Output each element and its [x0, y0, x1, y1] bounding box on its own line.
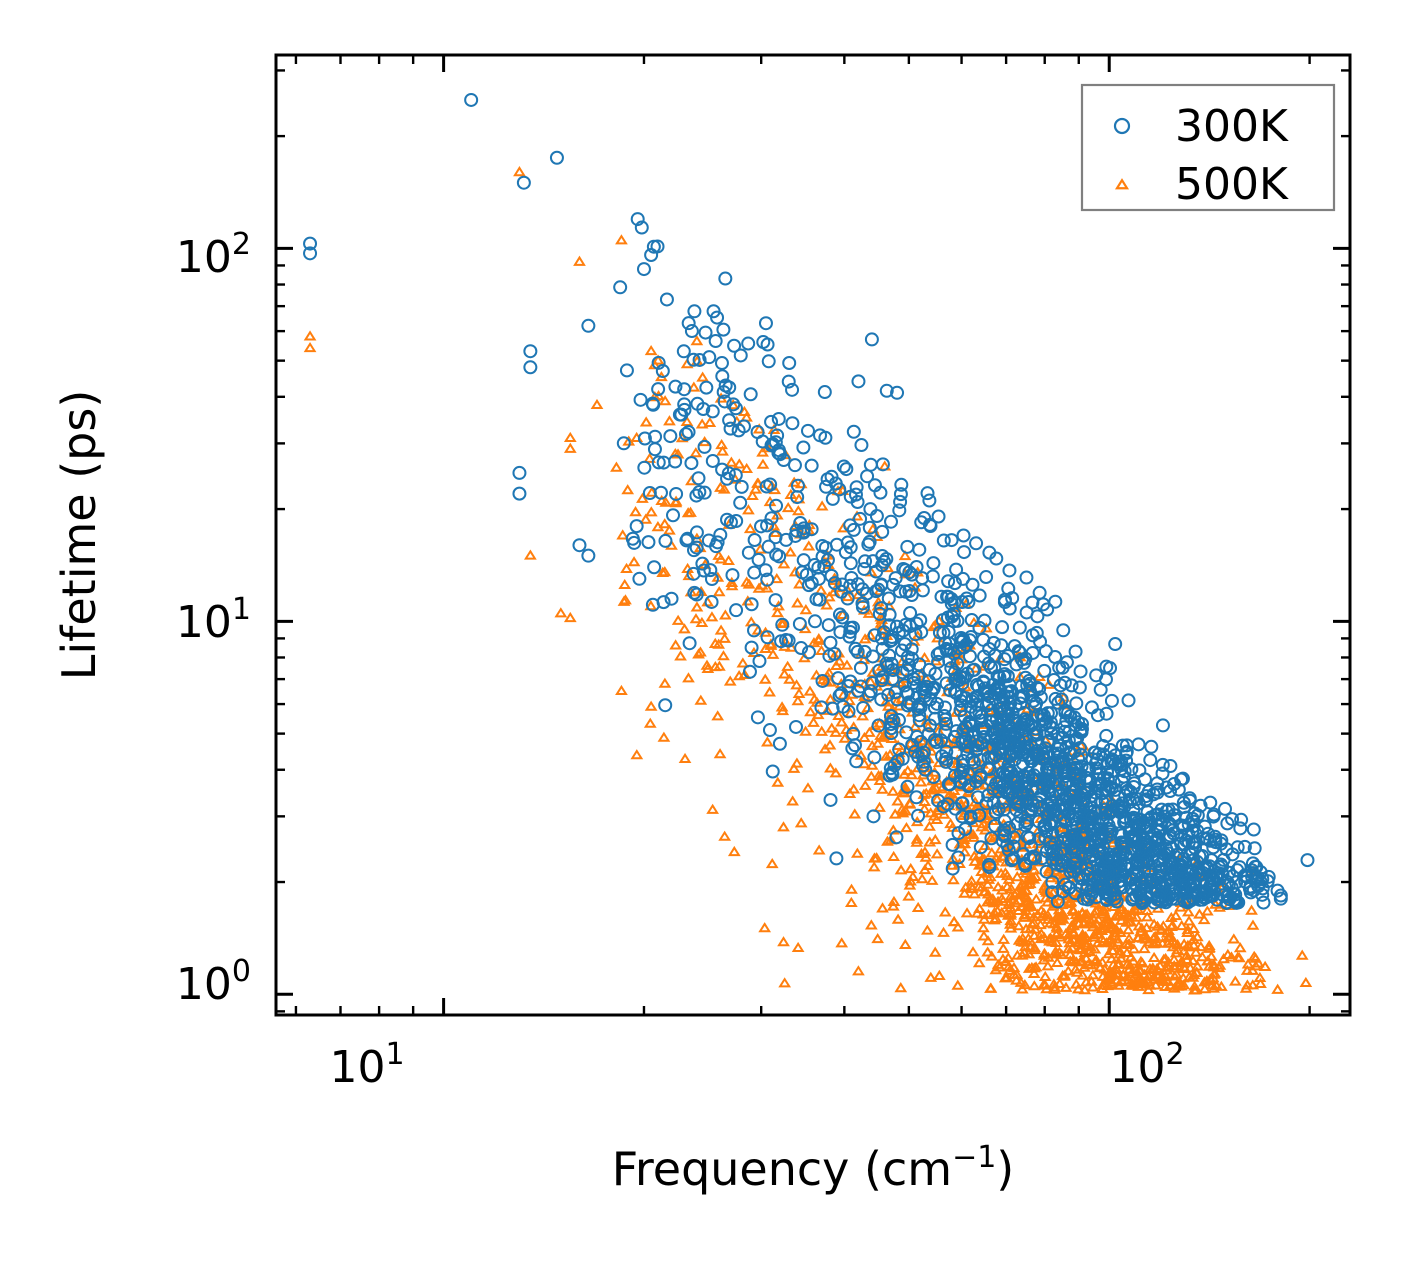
figure-container: 102 101 100 101 102 Frequency (cm−1) Lif… — [0, 0, 1408, 1265]
legend[interactable]: 300K 500K — [1082, 85, 1334, 210]
legend-label-300K: 300K — [1175, 101, 1289, 152]
y-axis-label: Lifetime (ps) — [52, 390, 106, 681]
scatter-plot: 102 101 100 101 102 Frequency (cm−1) Lif… — [0, 0, 1408, 1265]
legend-label-500K: 500K — [1175, 159, 1289, 210]
